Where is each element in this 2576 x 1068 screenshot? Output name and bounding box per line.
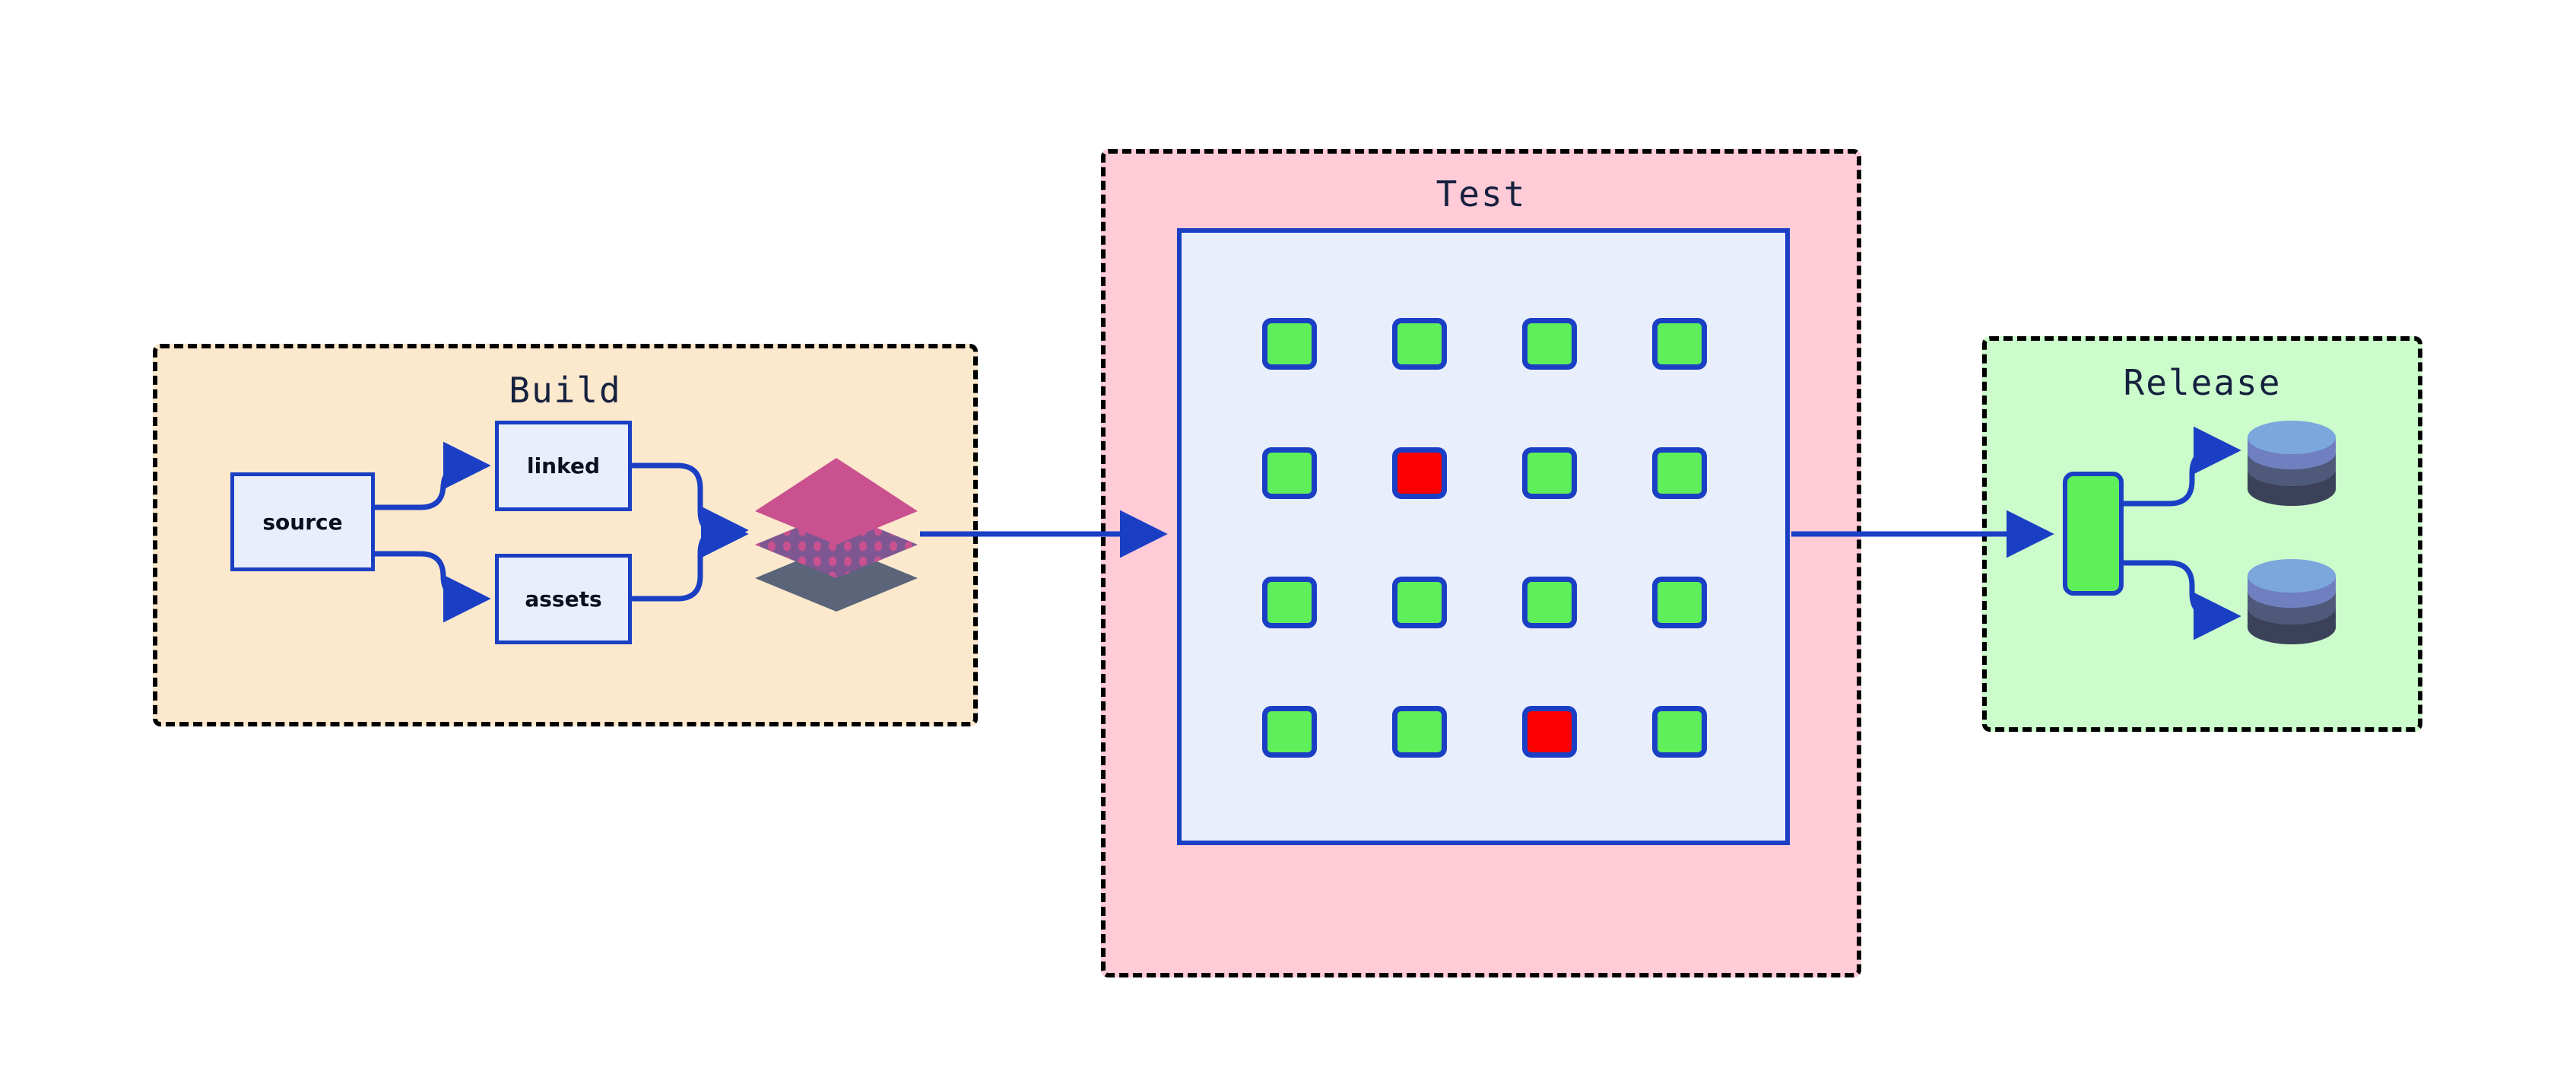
build-node-assets-label: assets	[525, 586, 601, 612]
test-cell-pass-r3c4[interactable]	[1652, 577, 1707, 628]
stage-test-title: Test	[1106, 173, 1857, 215]
test-cell-fail-r2c2[interactable]	[1392, 447, 1447, 499]
test-cell-pass-r3c1[interactable]	[1262, 577, 1317, 628]
stage-build-title: Build	[157, 370, 973, 411]
build-node-assets[interactable]: assets	[495, 554, 632, 644]
layers-stack-icon	[749, 447, 924, 622]
database-icon[interactable]	[2243, 413, 2340, 510]
test-cell-pass-r3c3[interactable]	[1522, 577, 1577, 628]
test-cell-pass-r1c3[interactable]	[1522, 318, 1577, 370]
build-node-linked-label: linked	[527, 453, 600, 478]
test-cell-pass-r4c1[interactable]	[1262, 706, 1317, 758]
test-cell-pass-r2c4[interactable]	[1652, 447, 1707, 499]
test-cell-pass-r1c4[interactable]	[1652, 318, 1707, 370]
stage-release-title: Release	[1987, 362, 2418, 403]
test-cell-pass-r1c2[interactable]	[1392, 318, 1447, 370]
build-node-source[interactable]: source	[230, 472, 375, 571]
diagram-canvas: Build source linked assets Test	[0, 0, 2576, 1068]
stage-release[interactable]: Release	[1982, 336, 2422, 732]
test-cell-pass-r3c2[interactable]	[1392, 577, 1447, 628]
test-cell-pass-r2c3[interactable]	[1522, 447, 1577, 499]
test-cell-pass-r4c2[interactable]	[1392, 706, 1447, 758]
test-cell-pass-r4c4[interactable]	[1652, 706, 1707, 758]
build-node-source-label: source	[262, 510, 342, 535]
test-results-grid	[1262, 318, 1706, 758]
database-icon[interactable]	[2243, 551, 2340, 649]
build-node-linked[interactable]: linked	[495, 421, 632, 511]
release-bar-icon[interactable]	[2063, 472, 2124, 596]
test-cell-pass-r2c1[interactable]	[1262, 447, 1317, 499]
test-cell-pass-r1c1[interactable]	[1262, 318, 1317, 370]
test-cell-fail-r4c3[interactable]	[1522, 706, 1577, 758]
